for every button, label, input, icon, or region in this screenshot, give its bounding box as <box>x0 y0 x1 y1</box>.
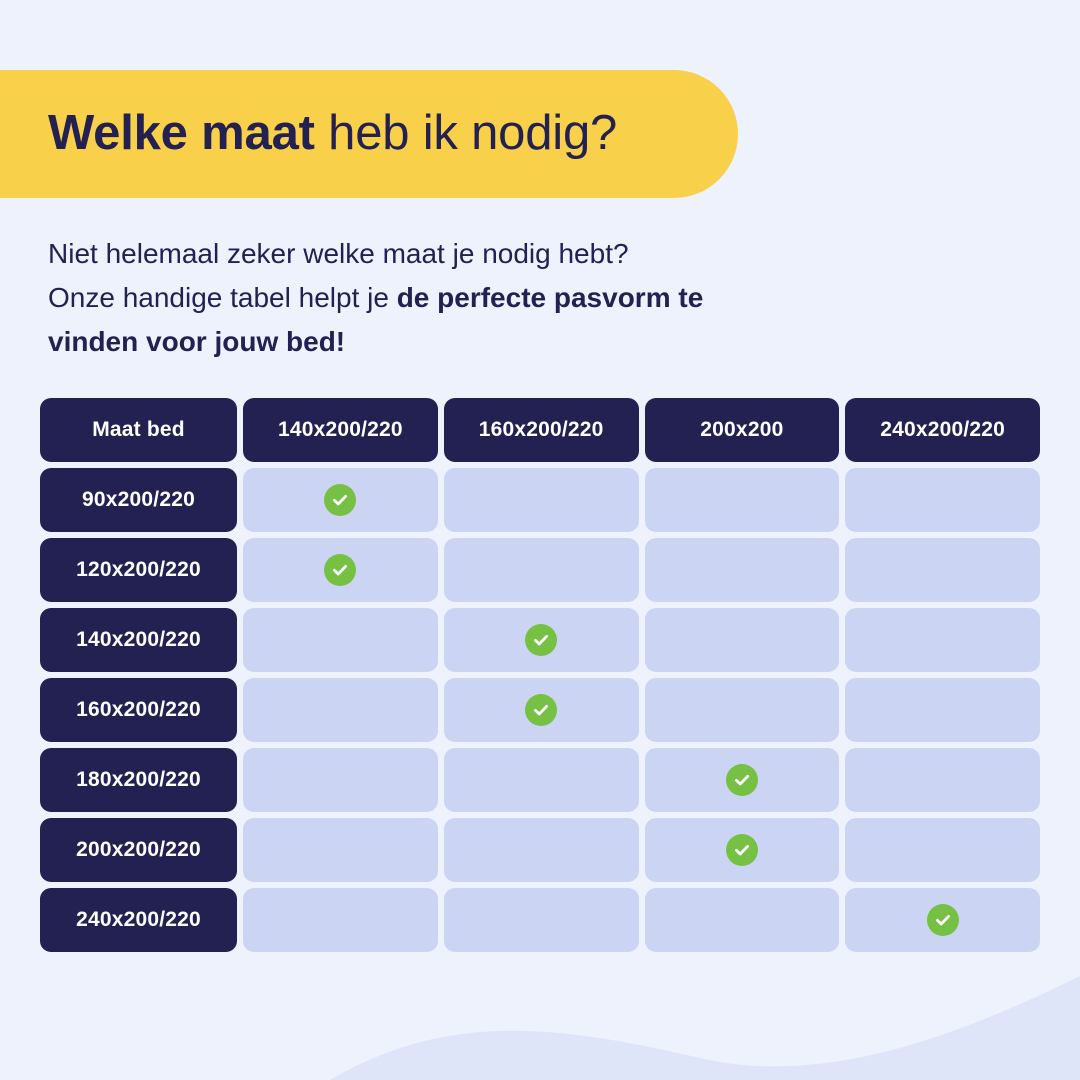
row-header-6: 240x200/220 <box>40 888 237 952</box>
page-title-rest: heb ik nodig? <box>315 106 617 160</box>
column-header-0: 140x200/220 <box>243 398 438 462</box>
table-row: 140x200/220 <box>40 608 1040 672</box>
table-row: 160x200/220 <box>40 678 1040 742</box>
table-cell-r5-c3 <box>845 818 1040 882</box>
table-cell-r2-c1 <box>444 608 639 672</box>
header-banner: Welke maat heb ik nodig? <box>0 70 738 198</box>
table-cell-r1-c3 <box>845 538 1040 602</box>
table-cell-r6-c1 <box>444 888 639 952</box>
intro-line-3-bold: vinden voor jouw bed! <box>48 326 345 357</box>
table-cell-r1-c2 <box>645 538 840 602</box>
column-header-3: 240x200/220 <box>845 398 1040 462</box>
table-cell-r5-c2 <box>645 818 840 882</box>
table-cell-r0-c2 <box>645 468 840 532</box>
wave-path <box>330 976 1080 1080</box>
table-cell-r6-c3 <box>845 888 1040 952</box>
table-cell-r0-c1 <box>444 468 639 532</box>
table-cell-r4-c1 <box>444 748 639 812</box>
table-cell-r5-c1 <box>444 818 639 882</box>
table-cell-r4-c3 <box>845 748 1040 812</box>
table-cell-r1-c1 <box>444 538 639 602</box>
table-row: 200x200/220 <box>40 818 1040 882</box>
check-icon <box>324 484 356 516</box>
table-cell-r6-c0 <box>243 888 438 952</box>
row-header-2: 140x200/220 <box>40 608 237 672</box>
intro-paragraph: Niet helemaal zeker welke maat je nodig … <box>48 232 928 364</box>
table-cell-r2-c0 <box>243 608 438 672</box>
row-header-4: 180x200/220 <box>40 748 237 812</box>
check-icon <box>726 764 758 796</box>
table-cell-r3-c2 <box>645 678 840 742</box>
intro-line-2-bold: de perfecte pasvorm te <box>397 282 704 313</box>
check-icon <box>324 554 356 586</box>
table-cell-r2-c2 <box>645 608 840 672</box>
page-title-bold: Welke maat <box>48 106 315 160</box>
table-cell-r4-c2 <box>645 748 840 812</box>
row-header-5: 200x200/220 <box>40 818 237 882</box>
check-icon <box>525 694 557 726</box>
table-row: 120x200/220 <box>40 538 1040 602</box>
table-cell-r0-c0 <box>243 468 438 532</box>
table-row: 240x200/220 <box>40 888 1040 952</box>
check-icon <box>525 624 557 656</box>
table-row: 180x200/220 <box>40 748 1040 812</box>
table-cell-r1-c0 <box>243 538 438 602</box>
intro-line-1: Niet helemaal zeker welke maat je nodig … <box>48 238 629 269</box>
column-header-1: 160x200/220 <box>444 398 639 462</box>
row-header-3: 160x200/220 <box>40 678 237 742</box>
column-header-2: 200x200 <box>645 398 840 462</box>
check-icon <box>726 834 758 866</box>
table-corner-header: Maat bed <box>40 398 237 462</box>
table-cell-r5-c0 <box>243 818 438 882</box>
intro-line-2-plain: Onze handige tabel helpt je <box>48 282 397 313</box>
page-title: Welke maat heb ik nodig? <box>48 108 617 159</box>
table-cell-r3-c1 <box>444 678 639 742</box>
table-row: 90x200/220 <box>40 468 1040 532</box>
bottom-wave-decoration <box>0 970 1080 1080</box>
table-cell-r0-c3 <box>845 468 1040 532</box>
table-cell-r4-c0 <box>243 748 438 812</box>
row-header-1: 120x200/220 <box>40 538 237 602</box>
table-cell-r3-c3 <box>845 678 1040 742</box>
table-cell-r3-c0 <box>243 678 438 742</box>
bed-size-table: Maat bed140x200/220160x200/220200x200240… <box>40 398 1040 952</box>
table-header-row: Maat bed140x200/220160x200/220200x200240… <box>40 398 1040 462</box>
table-cell-r2-c3 <box>845 608 1040 672</box>
table-cell-r6-c2 <box>645 888 840 952</box>
row-header-0: 90x200/220 <box>40 468 237 532</box>
check-icon <box>927 904 959 936</box>
